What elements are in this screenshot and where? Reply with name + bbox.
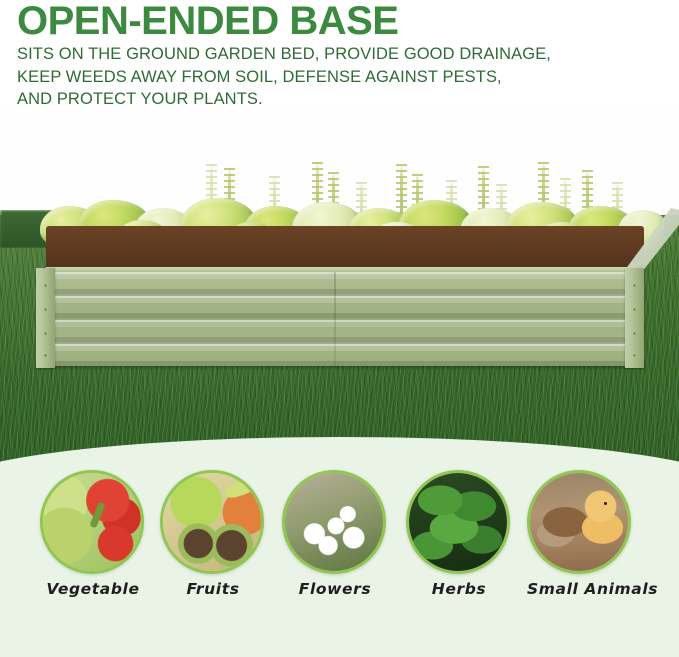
category-label-small-animals: Small Animals [527,580,633,598]
herbs-circle-image[interactable] [406,470,510,574]
fruits-icon [163,473,261,571]
chick-icon [530,473,628,571]
category-label-vegetable: Vegetable [40,580,146,598]
category-label-fruits: Fruits [160,580,266,598]
category-item-herbs[interactable]: Herbs [406,470,512,598]
vegetables-circle-image[interactable] [40,470,144,574]
small-animals-circle-image[interactable] [527,470,631,574]
header-block: OPEN-ENDED BASE SITS ON THE GROUND GARDE… [0,0,679,110]
category-item-small-animals[interactable]: Small Animals [527,470,633,598]
category-item-fruits[interactable]: Fruits [160,470,266,598]
page-title: OPEN-ENDED BASE [17,0,679,42]
herbs-icon [409,473,507,571]
subtitle-line-1: SITS ON THE GROUND GARDEN BED, PROVIDE G… [17,45,679,65]
category-label-flowers: Flowers [282,580,388,598]
flowers-circle-image[interactable] [282,470,386,574]
category-item-vegetable[interactable]: Vegetable [40,470,146,598]
category-label-herbs: Herbs [406,580,512,598]
flowers-icon [285,473,383,571]
fruits-circle-image[interactable] [160,470,264,574]
subtitle-line-2: KEEP WEEDS AWAY FROM SOIL, DEFENSE AGAIN… [17,68,679,88]
vegetables-icon [43,473,141,571]
product-feature-banner: OPEN-ENDED BASE SITS ON THE GROUND GARDE… [0,0,679,657]
category-item-flowers[interactable]: Flowers [282,470,388,598]
subtitle-line-3: AND PROTECT YOUR PLANTS. [17,90,679,110]
